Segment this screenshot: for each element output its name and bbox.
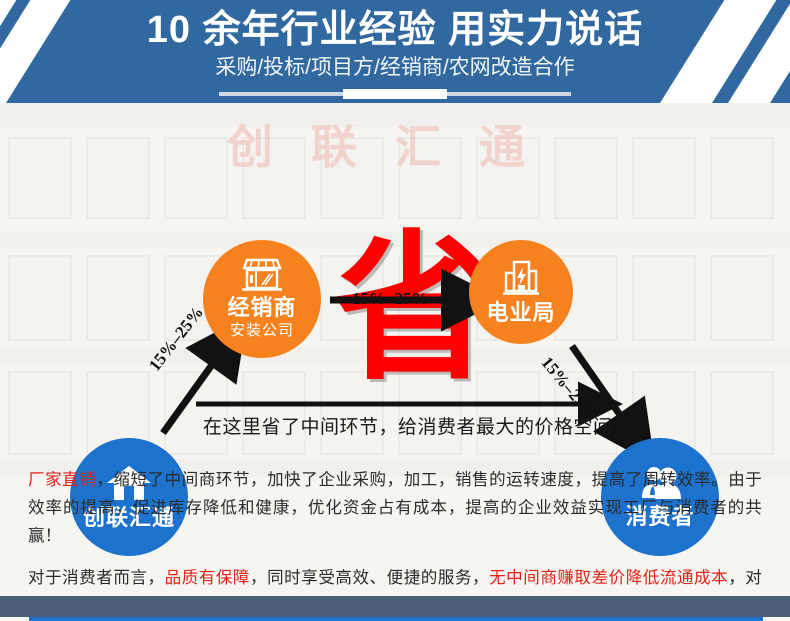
edge-label-company-to-consumer: 在这里省了中间环节，给消费者最大的价格空间	[203, 412, 593, 439]
header-divider-center-block	[343, 89, 447, 99]
page-header: 10 余年行业经验 用实力说话 采购/投标/项目方/经销商/农网改造合作	[0, 0, 790, 103]
diagram-node-dealer-label: 经销商	[227, 296, 296, 320]
shop-icon	[240, 258, 284, 292]
diagram-node-bureau-label: 电业局	[486, 301, 555, 325]
page-subtitle: 采购/投标/项目方/经销商/农网改造合作	[0, 55, 790, 81]
power-building-icon	[501, 259, 541, 297]
body-text: ，同时享受高效、便捷的服务，	[250, 569, 489, 587]
diagram-node-dealer[interactable]: 经销商 安装公司	[203, 240, 321, 358]
diagram-node-bureau[interactable]: 电业局	[469, 240, 573, 344]
body-text: ，缩短了中间商环节，加快了企业采购，加工，销售的运转速度，提高了周转效率。由于效…	[28, 471, 762, 545]
brand-watermark: 创联汇通	[0, 111, 790, 177]
paragraph-1: 厂家直销，缩短了中间商环节，加快了企业采购，加工，销售的运转速度，提高了周转效率…	[28, 466, 762, 550]
edge-label-dealer-to-bureau: 15%–25%	[352, 289, 429, 309]
diagram-node-dealer-sublabel: 安装公司	[230, 322, 294, 340]
footer-accent-line	[29, 617, 763, 621]
highlighted-text: 厂家直销	[28, 471, 96, 489]
promo-banner-page: 10 余年行业经验 用实力说话 采购/投标/项目方/经销商/农网改造合作	[0, 0, 790, 621]
footer-bar	[0, 596, 790, 617]
center-save-character: 省	[333, 229, 493, 389]
page-title: 10 余年行业经验 用实力说话	[0, 8, 790, 52]
highlighted-text: 品质有保障	[165, 569, 250, 587]
highlighted-text: 无中间商赚取差价降低流通成本	[489, 569, 728, 587]
body-text: 对于消费者而言，	[28, 569, 165, 587]
